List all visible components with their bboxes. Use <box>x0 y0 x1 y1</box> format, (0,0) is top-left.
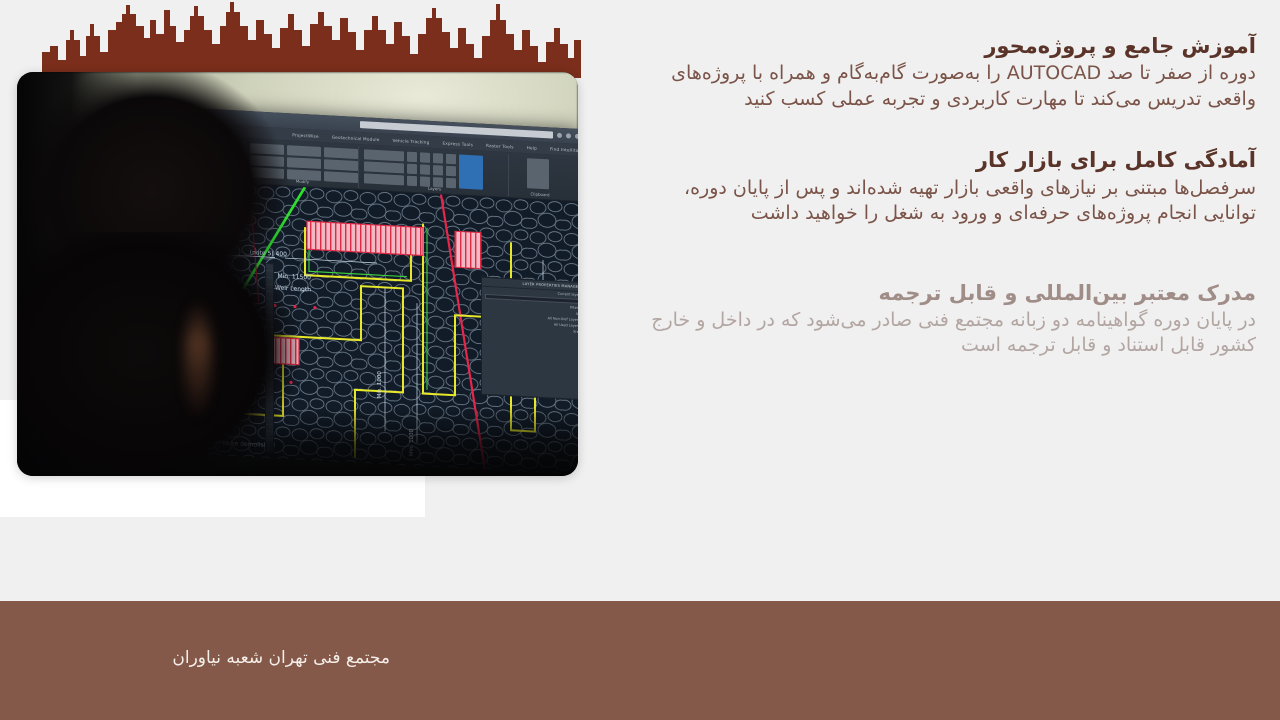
autocad-workstation-photo: Find Intellitools Help Raster Tools Expr… <box>17 72 578 476</box>
feature-heading-1: آموزش جامع و پروژه‌محور <box>630 32 1256 60</box>
cad-panel-layers: Layers <box>361 146 509 196</box>
feature-body-2: سرفصل‌ها مبتنی بر نیازهای واقعی بازار ته… <box>630 176 1256 227</box>
feature-block-comprehensive-training: آموزش جامع و پروژه‌محور دوره از صفر تا ص… <box>630 32 1256 112</box>
cad-tab-4: Vehicle Tracking <box>392 137 429 144</box>
visual-column: Find Intellitools Help Raster Tools Expr… <box>0 0 600 600</box>
svg-text:Min. 1000: Min. 1000 <box>377 371 383 399</box>
feature-body-3: در پایان دوره گواهینامه دو زبانه مجتمع ف… <box>630 308 1256 359</box>
person-shoulder-silhouette <box>17 232 307 476</box>
footer-brand-name: مجتمع فنی تهران شعبه نیاوران <box>172 648 390 668</box>
cad-undo-icon <box>557 133 562 138</box>
cad-app-icon <box>575 134 578 139</box>
cad-panel-label-clipboard: Clipboard <box>511 190 569 198</box>
cad-tab-2: Raster Tools <box>486 142 514 148</box>
footer-bar: مجتمع فنی تهران شعبه نیاوران WWW.MFTNIAV… <box>0 601 1280 720</box>
cad-save-icon <box>566 133 571 138</box>
person-rim-light <box>185 300 211 420</box>
cad-tab-5: Geotechnical Module <box>332 134 380 142</box>
cad-tab-0: Find Intellitools <box>550 146 578 153</box>
feature-heading-3: مدرک معتبر بین‌المللی و قابل ترجمه <box>630 279 1256 307</box>
feature-body-1: دوره از صفر تا صد AUTOCAD را به‌صورت گام… <box>630 61 1256 112</box>
cad-tab-1: Help <box>527 145 537 151</box>
feature-text-column: آموزش جامع و پروژه‌محور دوره از صفر تا ص… <box>600 0 1280 600</box>
cad-tab-3: Express Tools <box>442 140 473 147</box>
layer-properties-manager-panel: LAYER PROPERTIES MANAGER Current layer F… <box>481 277 578 401</box>
slide-root: Find Intellitools Help Raster Tools Expr… <box>0 0 1280 720</box>
feature-heading-2: آمادگی کامل برای بازار کار <box>630 146 1256 174</box>
city-skyline-icon <box>36 0 581 78</box>
feature-block-job-market-readiness: آمادگی کامل برای بازار کار سرفصل‌ها مبتن… <box>630 146 1256 226</box>
cad-panel-clipboard: Clipboard <box>511 154 569 199</box>
feature-block-international-certificate: مدرک معتبر بین‌المللی و قابل ترجمه در پا… <box>630 279 1256 359</box>
